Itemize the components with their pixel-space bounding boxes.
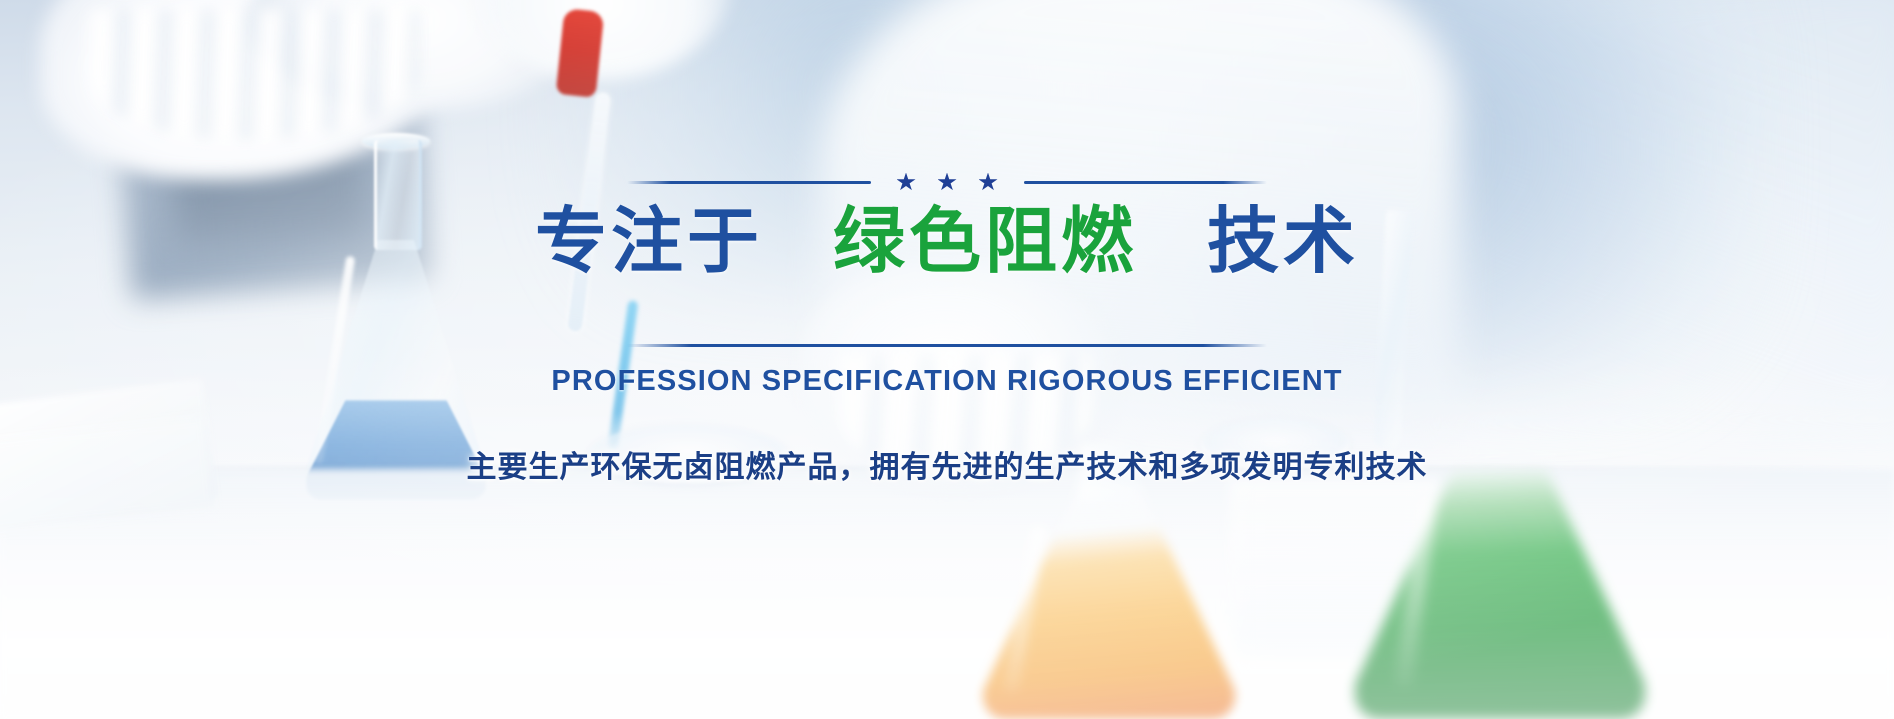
banner-headline: 专注于 绿色阻燃 技术 [535, 204, 1359, 282]
star-icon [897, 173, 916, 192]
headline-part-2: 绿色阻燃 [833, 202, 1137, 282]
banner-tagline: 主要生产环保无卤阻燃产品，拥有先进的生产技术和多项发明专利技术 [467, 442, 1428, 486]
rule-left [627, 181, 871, 184]
headline-underline [627, 344, 1267, 347]
decorative-star-rule [627, 172, 1267, 192]
banner-subtitle-english: PROFESSION SPECIFICATION RIGOROUS EFFICI… [551, 365, 1342, 398]
star-group [871, 173, 1024, 192]
rule-right [1024, 181, 1268, 184]
star-icon [938, 173, 957, 192]
star-icon [979, 173, 998, 192]
headline-part-1: 专注于 [535, 202, 763, 282]
headline-part-3: 技术 [1207, 202, 1359, 282]
hero-banner: 专注于 绿色阻燃 技术 PROFESSION SPECIFICATION RIG… [0, 0, 1894, 719]
banner-content: 专注于 绿色阻燃 技术 PROFESSION SPECIFICATION RIG… [0, 0, 1894, 719]
